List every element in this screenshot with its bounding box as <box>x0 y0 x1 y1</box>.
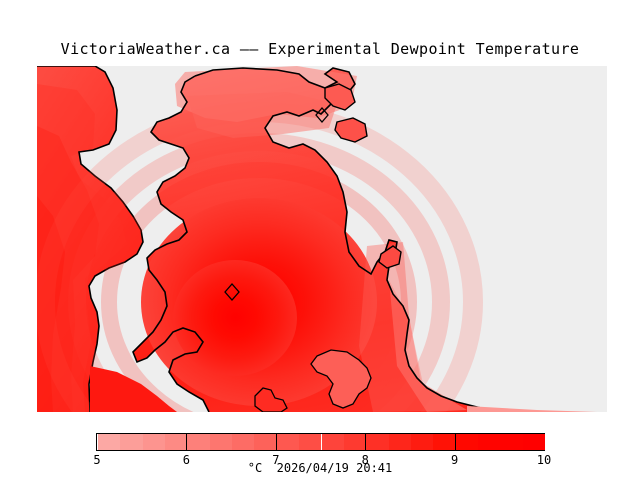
colorbar-band <box>299 434 321 450</box>
colorbar-band <box>366 434 388 450</box>
colorbar-band <box>500 434 522 450</box>
colorbar-tick <box>186 433 187 451</box>
map-panel[interactable] <box>37 66 607 412</box>
colorbar-tick <box>365 433 366 451</box>
colorbar-caption: °C 2026/04/19 20:41 <box>0 461 640 475</box>
colorbar-band <box>254 434 276 450</box>
page-title: VictoriaWeather.ca —— Experimental Dewpo… <box>0 40 640 58</box>
colorbar-band <box>433 434 455 450</box>
map-canvas[interactable] <box>37 66 607 412</box>
colorbar-band <box>478 434 500 450</box>
colorbar-band <box>322 434 344 450</box>
colorbar-band <box>456 434 478 450</box>
colorbar-band <box>165 434 187 450</box>
colorbar-band <box>143 434 165 450</box>
colorbar-band <box>523 434 545 450</box>
colorbar-band <box>120 434 142 450</box>
colorbar-band <box>210 434 232 450</box>
colorbar-band <box>187 434 209 450</box>
colorbar-band <box>389 434 411 450</box>
colorbar-band <box>98 434 120 450</box>
colorbar-band <box>277 434 299 450</box>
colorbar-gradient <box>96 433 545 451</box>
colorbar-band <box>232 434 254 450</box>
colorbar[interactable]: 5678910 <box>96 433 545 451</box>
colorbar-band <box>411 434 433 450</box>
colorbar-tick <box>276 433 277 451</box>
colorbar-band <box>344 434 366 450</box>
weather-map-page: VictoriaWeather.ca —— Experimental Dewpo… <box>0 0 640 480</box>
colorbar-tick <box>455 433 456 451</box>
